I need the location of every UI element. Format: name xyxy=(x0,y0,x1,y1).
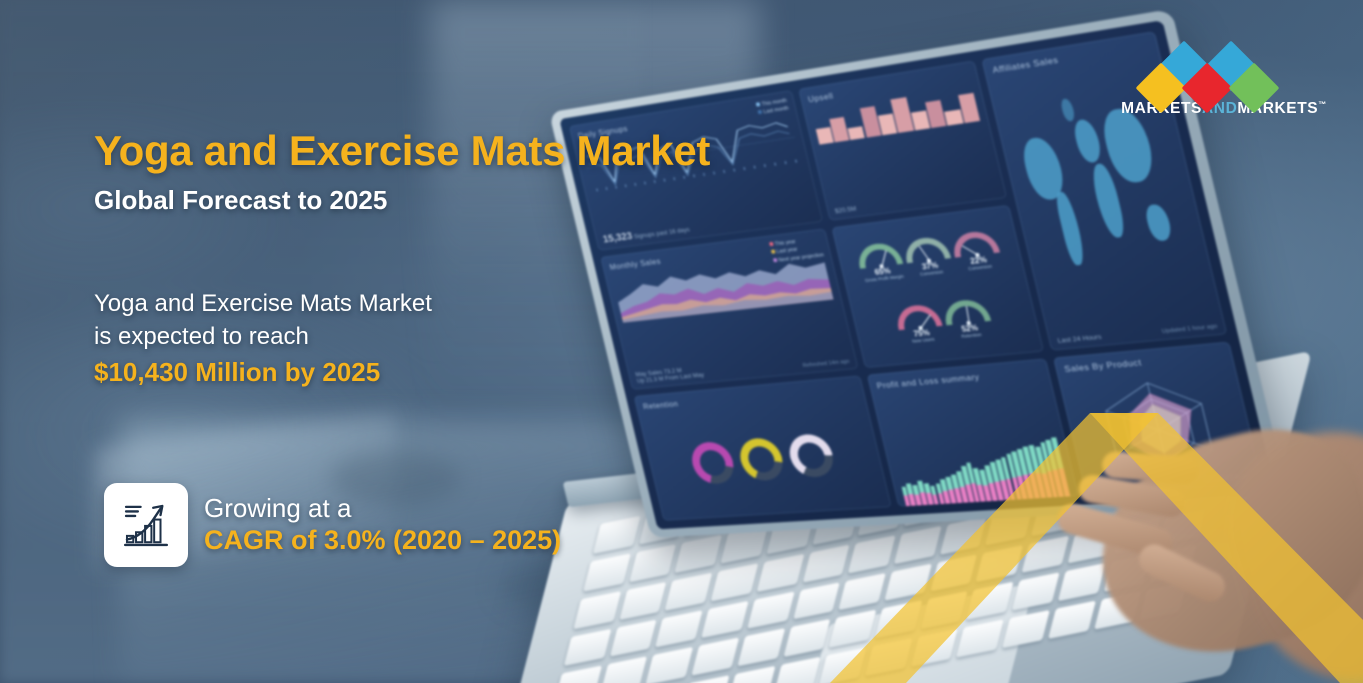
logo-diamonds xyxy=(1119,44,1329,100)
body-line-1: Yoga and Exercise Mats Market xyxy=(94,288,854,321)
cagr-line-1: Growing at a xyxy=(204,493,561,524)
banner-canvas: Daily Signups This month Last month xyxy=(0,0,1363,683)
body-line-2: is expected to reach xyxy=(94,321,854,354)
cagr-text: Growing at a CAGR of 3.0% (2020 – 2025) xyxy=(204,493,561,557)
market-value: $10,430 Million by 2025 xyxy=(94,357,854,388)
headline-block: Yoga and Exercise Mats Market Global For… xyxy=(94,128,854,388)
brand-logo[interactable]: MARKETSANDMARKETS™ xyxy=(1119,44,1329,118)
growth-chart-badge xyxy=(104,483,188,567)
market-value-block: Yoga and Exercise Mats Market is expecte… xyxy=(94,288,854,388)
chevron-left-band xyxy=(830,413,1158,683)
page-subtitle: Global Forecast to 2025 xyxy=(94,185,854,216)
cagr-line-2: CAGR of 3.0% (2020 – 2025) xyxy=(204,524,561,557)
cagr-block: Growing at a CAGR of 3.0% (2020 – 2025) xyxy=(104,483,561,567)
growth-chart-icon xyxy=(117,496,175,554)
trademark-symbol: ™ xyxy=(1318,100,1327,109)
chevron-right-band xyxy=(1090,413,1363,683)
page-title: Yoga and Exercise Mats Market xyxy=(94,128,854,174)
